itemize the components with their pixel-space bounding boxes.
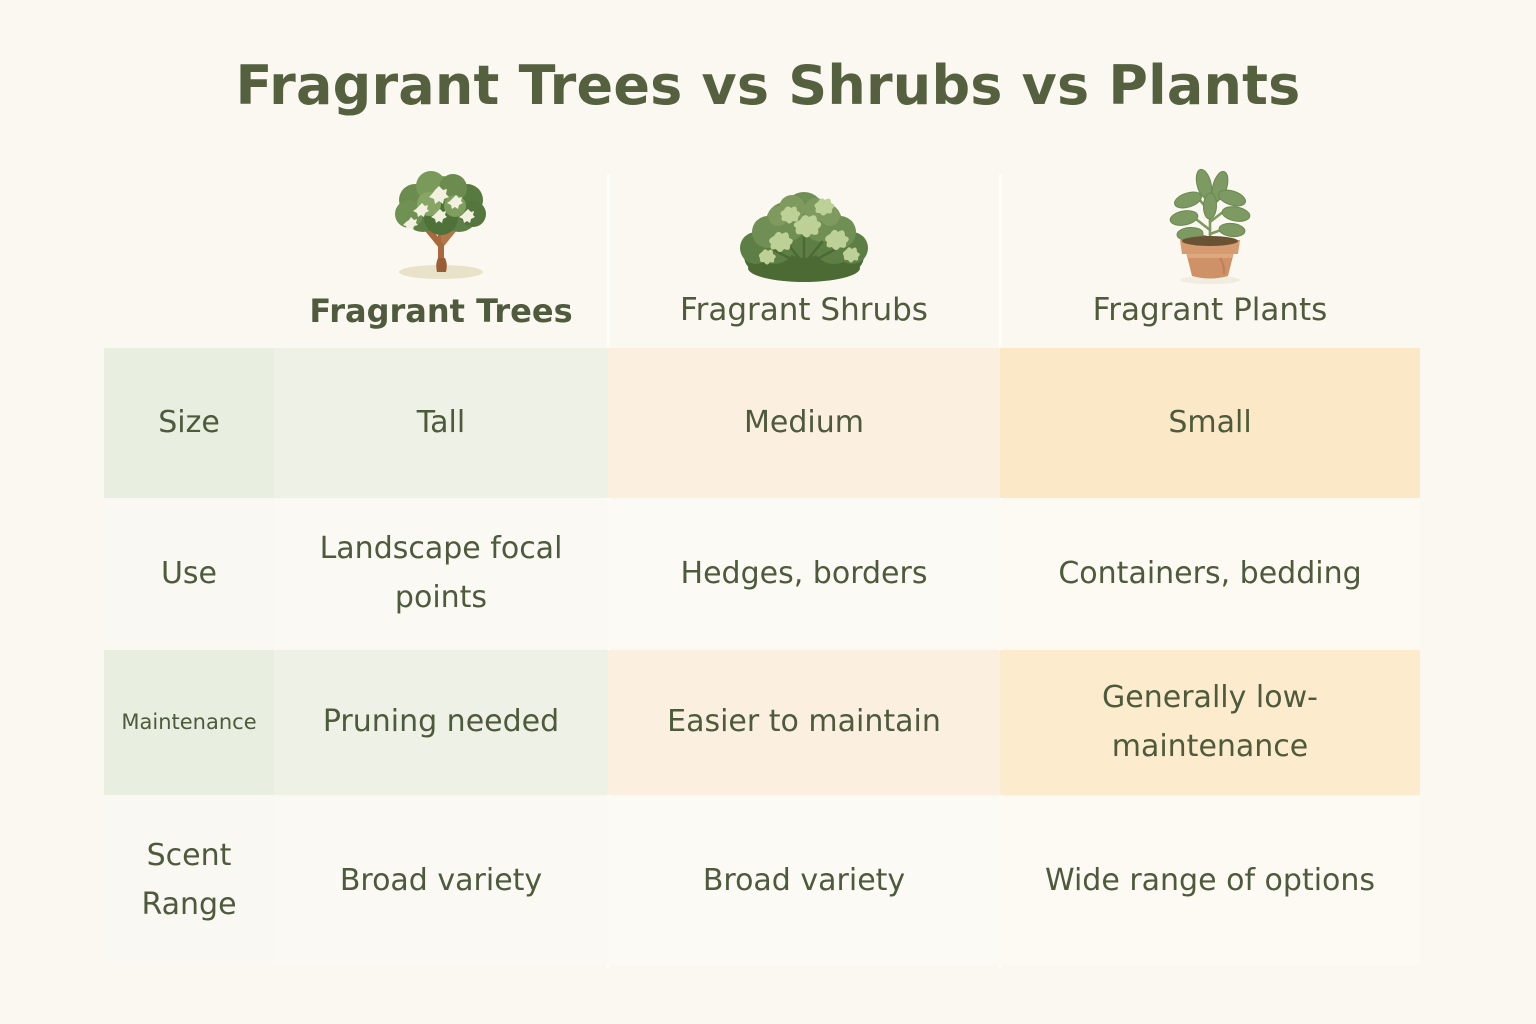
cell-use-shrubs: Hedges, borders	[608, 500, 1000, 648]
page-title: Fragrant Trees vs Shrubs vs Plants	[0, 54, 1536, 117]
column-header-trees: Fragrant Trees	[274, 168, 608, 348]
shrub-icon	[608, 168, 1000, 286]
table-row: Scent Range Broad variety Broad variety …	[104, 797, 1420, 965]
column-header-shrubs: Fragrant Shrubs	[608, 168, 1000, 348]
cell-scent-trees: Broad variety	[274, 797, 608, 965]
table-row: Use Landscape focal points Hedges, borde…	[104, 500, 1420, 648]
column-header-label-plants: Fragrant Plants	[1000, 292, 1420, 328]
column-header-label-trees: Fragrant Trees	[274, 292, 608, 330]
cell-scent-plants: Wide range of options	[1000, 797, 1420, 965]
infographic-canvas: Fragrant Trees vs Shrubs vs Plants	[0, 0, 1536, 1024]
cell-maintenance-trees: Pruning needed	[274, 650, 608, 795]
comparison-table: Fragrant Trees	[104, 168, 1420, 968]
tree-icon	[274, 168, 608, 286]
table-row: Maintenance Pruning needed Easier to mai…	[104, 650, 1420, 795]
cell-maintenance-shrubs: Easier to maintain	[608, 650, 1000, 795]
cell-use-plants: Containers, bedding	[1000, 500, 1420, 648]
cell-scent-shrubs: Broad variety	[608, 797, 1000, 965]
cell-maintenance-plants: Generally low-maintenance	[1000, 650, 1420, 795]
cell-use-trees: Landscape focal points	[274, 500, 608, 648]
column-header-label-shrubs: Fragrant Shrubs	[608, 292, 1000, 328]
row-label-scent-range: Scent Range	[104, 797, 274, 965]
cell-size-trees: Tall	[274, 348, 608, 498]
row-label-use: Use	[104, 500, 274, 648]
table-row: Size Tall Medium Small	[104, 348, 1420, 498]
cell-size-plants: Small	[1000, 348, 1420, 498]
cell-size-shrubs: Medium	[608, 348, 1000, 498]
row-label-size: Size	[104, 348, 274, 498]
column-header-plants: Fragrant Plants	[1000, 168, 1420, 348]
row-label-maintenance: Maintenance	[104, 650, 274, 795]
potted-plant-icon	[1000, 168, 1420, 286]
